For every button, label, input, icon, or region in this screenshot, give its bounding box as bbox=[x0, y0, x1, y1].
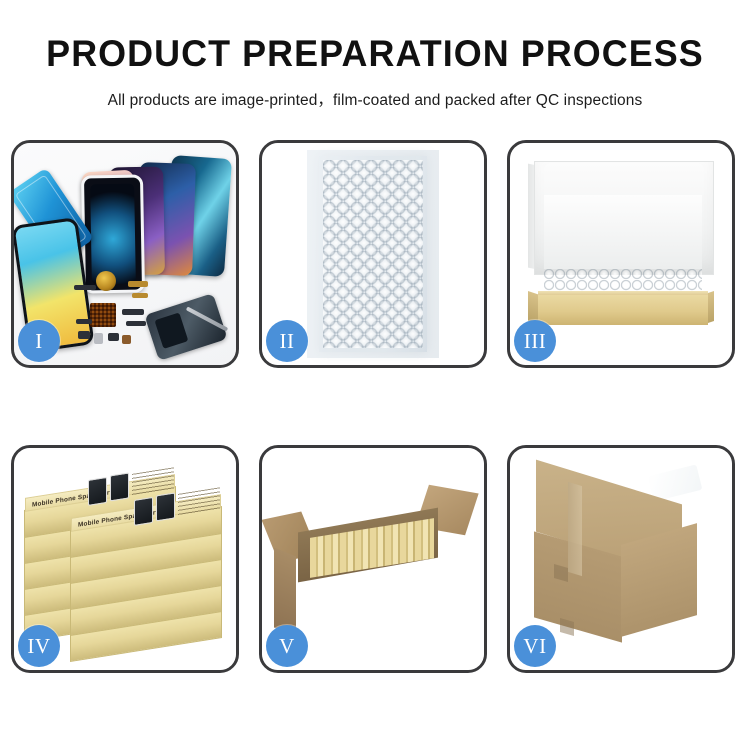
step-badge-5: V bbox=[266, 625, 308, 667]
box-stack: Mobile Phone Spare Parts Mobile Phone Sp… bbox=[24, 474, 232, 654]
process-step-panel-4[interactable]: Mobile Phone Spare Parts Mobile Phone Sp… bbox=[11, 445, 239, 673]
step-badge-3: III bbox=[514, 320, 556, 362]
connector-chip-icon bbox=[74, 285, 96, 290]
page-subtitle: All products are image-printed，film-coat… bbox=[0, 88, 750, 110]
sim-tray-icon bbox=[94, 333, 103, 344]
carton-right-face-icon bbox=[420, 544, 458, 637]
screw-set-icon bbox=[122, 335, 131, 344]
foam-insert-icon bbox=[544, 195, 702, 269]
carton-front-face-icon bbox=[294, 566, 420, 642]
bubble-wrap-sheet-icon bbox=[319, 156, 427, 352]
process-step-panel-2[interactable]: II bbox=[259, 140, 487, 368]
process-step-grid: I II III bbox=[11, 140, 739, 673]
step-badge-4: IV bbox=[18, 625, 60, 667]
carton-tab-lower-icon bbox=[560, 618, 574, 636]
step-badge-2: II bbox=[266, 320, 308, 362]
ribbon-cable-icon bbox=[122, 309, 144, 315]
small-components-group bbox=[74, 275, 184, 357]
carton-left-face-icon bbox=[274, 548, 296, 637]
box-spec-lines-2 bbox=[178, 487, 220, 516]
box-product-photo-2 bbox=[110, 472, 129, 501]
flex-cable-icon bbox=[128, 281, 148, 287]
camera-module-icon bbox=[78, 331, 90, 339]
box-product-photo-1 bbox=[88, 477, 107, 506]
step-badge-1: I bbox=[18, 320, 60, 362]
page-title: PRODUCT PREPARATION PROCESS bbox=[11, 34, 739, 75]
copper-mesh-icon bbox=[90, 303, 116, 327]
ribbon-cable2-icon bbox=[126, 321, 146, 326]
packing-tape-icon bbox=[568, 482, 582, 576]
process-step-panel-5[interactable]: V bbox=[259, 445, 487, 673]
flex-cable-small-icon bbox=[132, 293, 148, 298]
process-step-panel-6[interactable]: VI bbox=[507, 445, 735, 673]
process-step-panel-1[interactable]: I bbox=[11, 140, 239, 368]
antenna-strip-icon bbox=[76, 319, 92, 324]
page-header: PRODUCT PREPARATION PROCESS All products… bbox=[0, 0, 750, 110]
box-product-photo-4 bbox=[156, 492, 175, 521]
box-front-panel-icon bbox=[538, 295, 708, 325]
vibrator-icon bbox=[108, 333, 119, 341]
speaker-coil-icon bbox=[96, 271, 116, 291]
box-spec-lines bbox=[132, 467, 174, 496]
box-product-photo-3 bbox=[134, 497, 153, 526]
process-step-panel-3[interactable]: III bbox=[507, 140, 735, 368]
bubble-pattern bbox=[323, 160, 423, 348]
step-badge-6: VI bbox=[514, 625, 556, 667]
